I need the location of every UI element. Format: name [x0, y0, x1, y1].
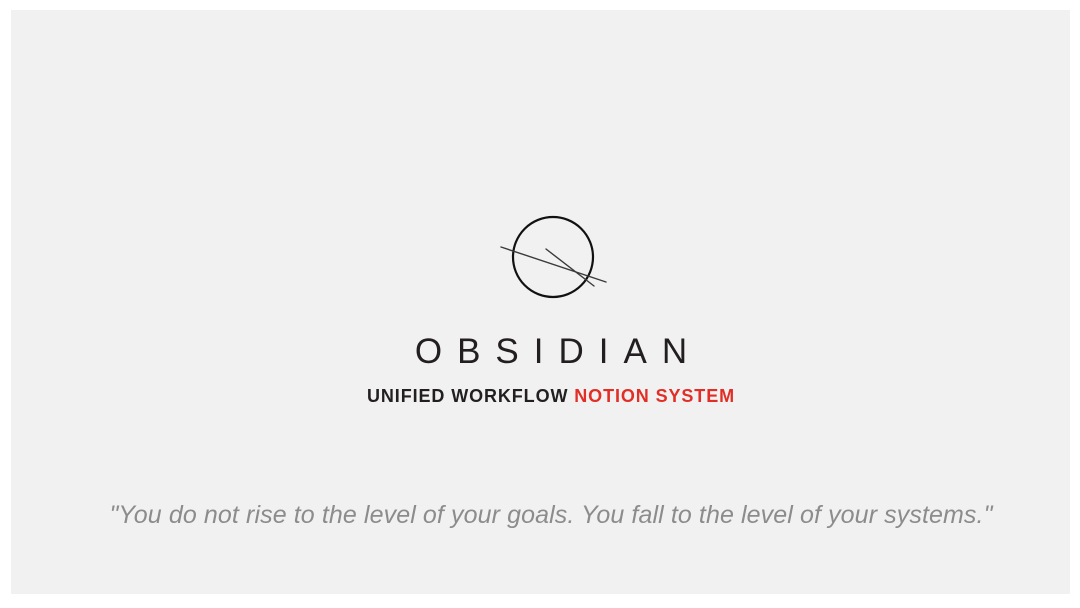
- subtitle-primary-text: UNIFIED WORKFLOW: [367, 386, 568, 406]
- slide-panel: OBSIDIAN UNIFIED WORKFLOW NOTION SYSTEM …: [11, 10, 1070, 594]
- brand-logo: [495, 208, 613, 300]
- logo-slash-long: [501, 247, 606, 282]
- slide-frame: OBSIDIAN UNIFIED WORKFLOW NOTION SYSTEM …: [0, 0, 1080, 608]
- subtitle-accent-text: NOTION SYSTEM: [574, 386, 735, 406]
- logo-slash-short: [546, 249, 594, 286]
- brand-wordmark: OBSIDIAN: [11, 332, 1080, 372]
- circle-slash-icon: [495, 208, 613, 300]
- brand-subtitle: UNIFIED WORKFLOW NOTION SYSTEM: [11, 385, 1080, 407]
- tagline-quote: "You do not rise to the level of your go…: [11, 500, 1080, 530]
- logo-circle: [513, 217, 593, 297]
